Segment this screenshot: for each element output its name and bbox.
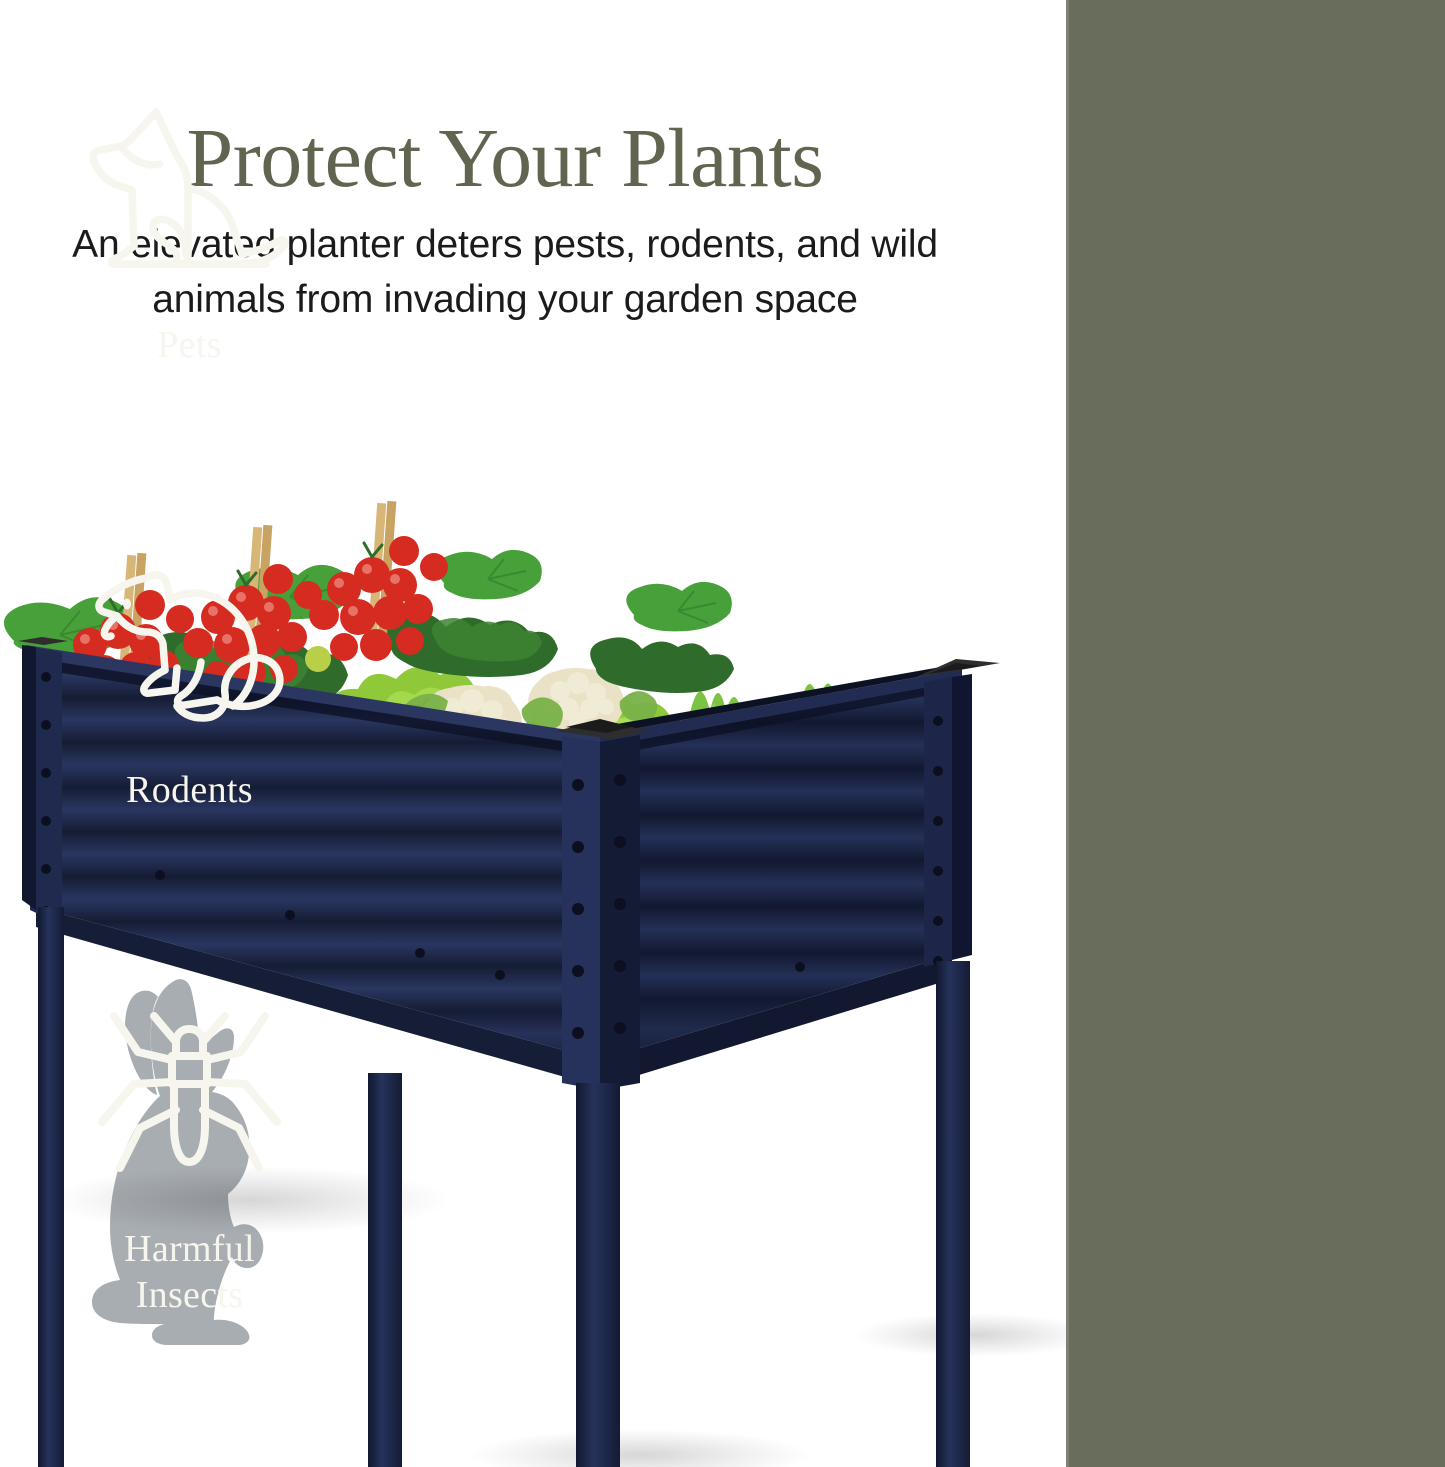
feature-label-rodents: Rodents [0, 768, 379, 814]
mouse-icon [0, 566, 379, 746]
sidebar-divider [1066, 0, 1069, 1467]
feature-pets: Pets [0, 96, 379, 369]
feature-label-pets: Pets [0, 323, 379, 369]
feature-insects: HarmfulInsects [0, 1010, 379, 1318]
feature-label-insects-line1: Harmful [124, 1228, 255, 1270]
insect-icon [0, 1010, 379, 1205]
feature-sidebar [1066, 0, 1445, 1467]
feature-rodents: Rodents [0, 566, 379, 814]
feature-label-insects: HarmfulInsects [0, 1227, 379, 1318]
feature-label-insects-line2: Insects [136, 1274, 244, 1316]
dog-icon [0, 96, 379, 301]
